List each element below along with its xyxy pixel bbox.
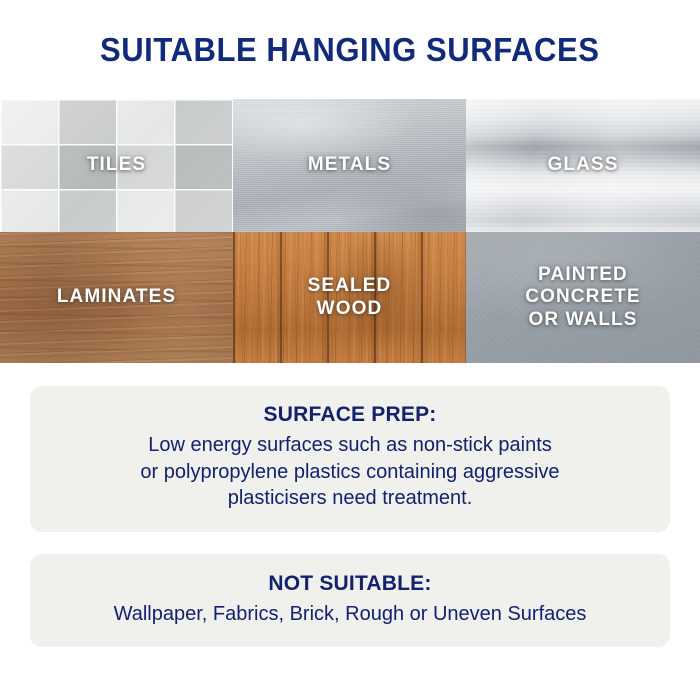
surface-cell-tiles: TILES (0, 99, 233, 232)
not-suitable-panel: NOT SUITABLE: Wallpaper, Fabrics, Brick,… (30, 554, 670, 647)
page-header: SUITABLE HANGING SURFACES (0, 0, 700, 99)
not-suitable-body: Wallpaper, Fabrics, Brick, Rough or Unev… (54, 601, 646, 627)
surface-cell-label: TILES (87, 154, 146, 176)
not-suitable-heading: NOT SUITABLE: (54, 572, 646, 596)
surface-cell-label: METALS (308, 154, 391, 176)
surface-cell-label: LAMINATES (57, 286, 176, 308)
surface-cell-glass: GLASS (466, 99, 700, 232)
surface-cell-label: SEALED WOOD (308, 275, 392, 320)
surface-prep-heading: SURFACE PREP: (56, 403, 644, 427)
surface-grid: TILES METALS GLASS LAMINATES SEALED WOOD… (0, 99, 700, 363)
surface-prep-panel: SURFACE PREP: Low energy surfaces such a… (30, 386, 670, 532)
surface-cell-sealed-wood: SEALED WOOD (233, 232, 466, 363)
info-panels: SURFACE PREP: Low energy surfaces such a… (0, 363, 700, 647)
page-title: SUITABLE HANGING SURFACES (100, 31, 600, 69)
surface-cell-label: GLASS (548, 154, 619, 176)
surface-prep-body: Low energy surfaces such as non-stick pa… (56, 432, 644, 512)
surface-cell-label: PAINTED CONCRETE OR WALLS (525, 264, 640, 331)
surface-cell-laminates: LAMINATES (0, 232, 233, 363)
surface-cell-metals: METALS (233, 99, 466, 232)
surface-cell-painted-concrete: PAINTED CONCRETE OR WALLS (466, 232, 700, 363)
